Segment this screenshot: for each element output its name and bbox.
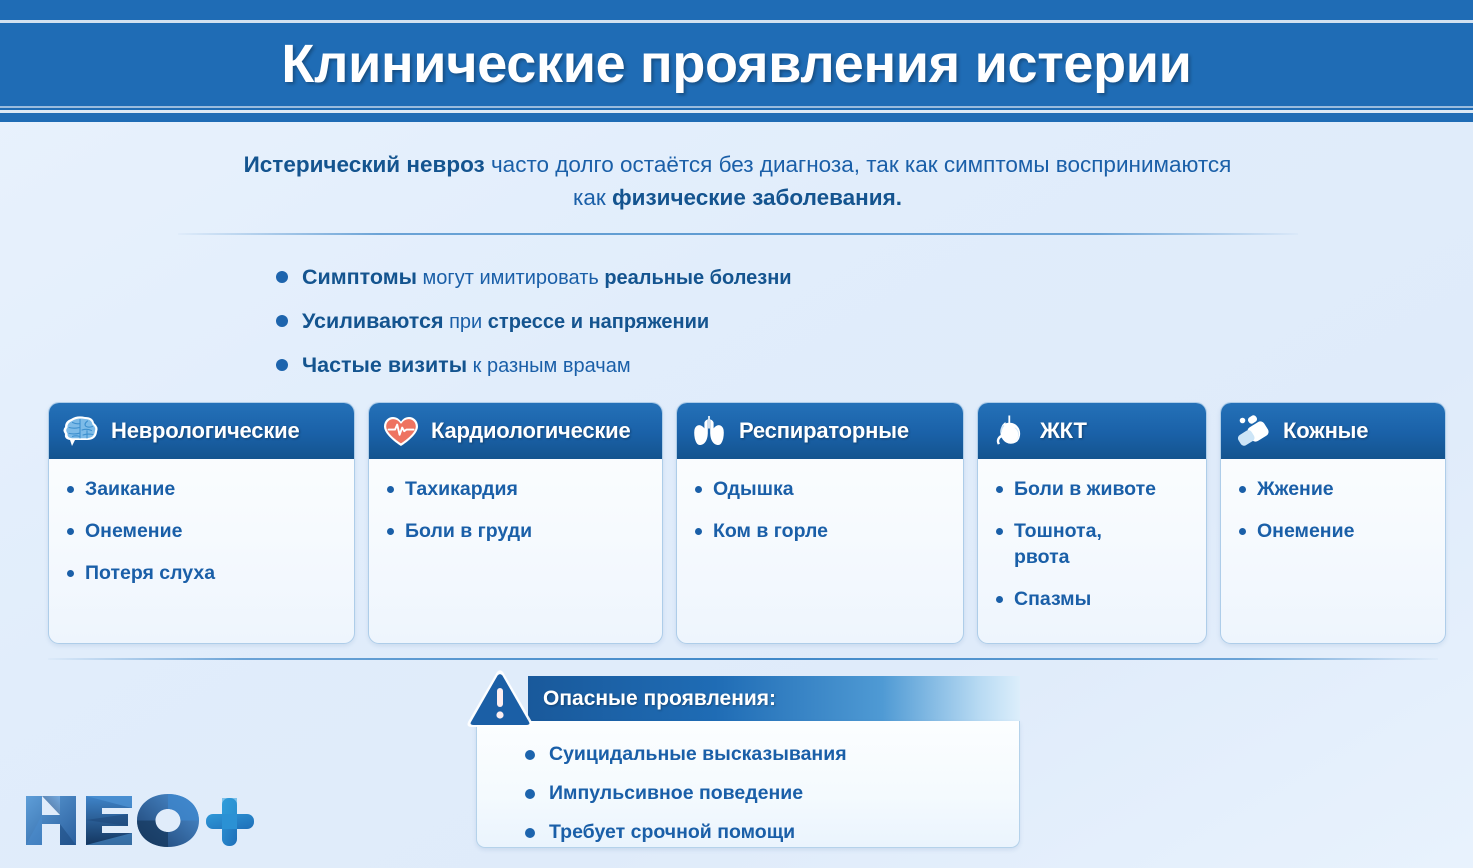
list-item: Импульсивное поведение (525, 774, 1019, 813)
list-item: Одышка (695, 476, 953, 502)
danger-callout-title: Опасные проявления: (543, 687, 776, 711)
bullet-dot-icon (67, 486, 74, 493)
card-respiratory: Респираторные Одышка Ком в горле (676, 402, 964, 644)
card-item-label: Потеря слуха (85, 560, 215, 586)
intro-line2-pre: как (573, 185, 612, 210)
list-item: Частые визиты к разным врачам (276, 343, 1076, 387)
list-item: Усиливаются при стрессе и напряжении (276, 299, 1076, 343)
bullet-dot-icon (695, 486, 702, 493)
warning-triangle-icon (464, 668, 536, 730)
list-item: Тахикардия (387, 476, 652, 502)
card-title: ЖКТ (1040, 418, 1087, 444)
bullet-dot-icon (67, 528, 74, 535)
card-title: Кожные (1283, 418, 1368, 444)
logo-letter-n (26, 796, 76, 845)
list-item: Онемение (67, 518, 344, 544)
danger-callout-header: Опасные проявления: (528, 676, 1020, 721)
bullet-dot-icon (387, 528, 394, 535)
card-item-label: Спазмы (1014, 586, 1091, 612)
card-title: Кардиологические (431, 418, 631, 444)
lead-item-strong2: реальные болезни (604, 267, 791, 289)
card-item-label: Тахикардия (405, 476, 518, 502)
card-item-label: Боли в груди (405, 518, 532, 544)
card-dermatological: Кожные Жжение Онемение (1220, 402, 1446, 644)
skin-patch-icon (1232, 410, 1274, 452)
list-item: Заикание (67, 476, 344, 502)
bullet-dot-icon (276, 271, 288, 283)
card-body: Боли в животе Тошнота, рвота Спазмы (978, 459, 1206, 638)
bullet-dot-icon (996, 486, 1003, 493)
card-header: Кардиологические (369, 403, 662, 459)
card-header: Респираторные (677, 403, 963, 459)
list-item: Жжение (1239, 476, 1435, 502)
intro-strong-phrase: физические заболевания. (612, 185, 902, 210)
header-rule-bottom-thick (0, 110, 1473, 113)
list-item: Боли в животе (996, 476, 1196, 502)
logo-plus-icon (206, 798, 254, 846)
card-cardiological: Кардиологические Тахикардия Боли в груди (368, 402, 663, 644)
page-title: Клинические проявления истерии (0, 24, 1473, 104)
bullet-dot-icon (1239, 486, 1246, 493)
list-item: Спазмы (996, 586, 1196, 612)
neo-plus-logo (20, 788, 255, 852)
card-header: ЖКТ (978, 403, 1206, 459)
bullet-dot-icon (996, 528, 1003, 535)
header-rule-bottom-thin (0, 106, 1473, 108)
lead-item-mid: при (444, 311, 488, 333)
card-title: Респираторные (739, 418, 909, 444)
card-item-label: Заикание (85, 476, 175, 502)
bullet-dot-icon (67, 570, 74, 577)
danger-item-label: Требует срочной помощи (549, 821, 795, 844)
list-item: Симптомы могут имитировать реальные боле… (276, 255, 1076, 299)
danger-callout-body: Суицидальные высказывания Импульсивное п… (476, 721, 1020, 848)
lead-item-mid: к разным врачам (467, 355, 631, 377)
danger-callout: Опасные проявления: Суицидальные высказы… (464, 668, 1020, 848)
logo-letter-o (137, 794, 199, 847)
divider-lower (48, 658, 1438, 660)
brain-icon (60, 410, 102, 452)
card-neurological: Неврологические Заикание Онемение Потеря… (48, 402, 355, 644)
list-item: Боли в груди (387, 518, 652, 544)
card-body: Тахикардия Боли в груди (369, 459, 662, 570)
bullet-dot-icon (695, 528, 702, 535)
card-body: Заикание Онемение Потеря слуха (49, 459, 354, 612)
card-header: Неврологические (49, 403, 354, 459)
card-item-label: Боли в животе (1014, 476, 1156, 502)
card-body: Одышка Ком в горле (677, 459, 963, 570)
card-gastrointestinal: ЖКТ Боли в животе Тошнота, рвота Спазмы (977, 402, 1207, 644)
heart-pulse-icon (380, 410, 422, 452)
lead-item-strong: Усиливаются (302, 309, 444, 333)
page-header: Клинические проявления истерии (0, 0, 1473, 122)
intro-line1-rest: часто долго остаётся без диагноза, так к… (485, 152, 1232, 177)
card-header: Кожные (1221, 403, 1445, 459)
bullet-dot-icon (276, 359, 288, 371)
lead-item-strong2: стрессе и напряжении (488, 311, 709, 333)
bullet-dot-icon (525, 828, 535, 838)
card-item-label: Ком в горле (713, 518, 828, 544)
list-item: Суицидальные высказывания (525, 735, 1019, 774)
intro-paragraph: Истерический невроз часто долго остаётся… (160, 148, 1315, 214)
symptom-category-cards: Неврологические Заикание Онемение Потеря… (48, 402, 1433, 644)
list-item: Ком в горле (695, 518, 953, 544)
logo-letter-e (86, 796, 132, 845)
bullet-dot-icon (387, 486, 394, 493)
lead-item-strong: Частые визиты (302, 353, 467, 377)
divider-upper (178, 233, 1298, 235)
card-item-label: Жжение (1257, 476, 1334, 502)
header-rule-top (0, 20, 1473, 23)
bullet-dot-icon (996, 596, 1003, 603)
stomach-icon (989, 410, 1031, 452)
bullet-dot-icon (525, 789, 535, 799)
card-body: Жжение Онемение (1221, 459, 1445, 570)
list-item: Требует срочной помощи (525, 813, 1019, 852)
list-item: Потеря слуха (67, 560, 344, 586)
card-title: Неврологические (111, 418, 300, 444)
lead-item-mid: могут имитировать (417, 267, 604, 289)
card-item-label: Онемение (1257, 518, 1354, 544)
list-item: Тошнота, рвота (996, 518, 1196, 570)
lead-item-strong: Симптомы (302, 265, 417, 289)
bullet-dot-icon (276, 315, 288, 327)
intro-strong-term: Истерический невроз (244, 152, 485, 177)
bullet-dot-icon (525, 750, 535, 760)
lungs-icon (688, 410, 730, 452)
bullet-dot-icon (1239, 528, 1246, 535)
danger-item-label: Импульсивное поведение (549, 782, 803, 805)
danger-item-label: Суицидальные высказывания (549, 743, 847, 766)
card-item-label: Тошнота, рвота (1014, 518, 1102, 570)
lead-bullet-list: Симптомы могут имитировать реальные боле… (276, 255, 1076, 387)
card-item-label: Онемение (85, 518, 182, 544)
card-item-label: Одышка (713, 476, 794, 502)
list-item: Онемение (1239, 518, 1435, 544)
